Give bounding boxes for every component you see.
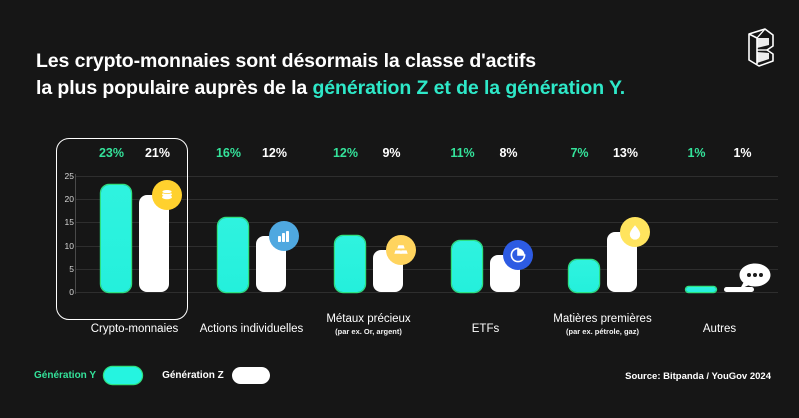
bar-slot — [256, 176, 286, 292]
category-label-main: Matières premières — [536, 313, 669, 327]
value-label: 9% — [377, 146, 407, 160]
bitpanda-b-logo — [743, 26, 777, 68]
bar-slot — [335, 176, 365, 292]
title-line-2: la plus populaire auprès de la génératio… — [36, 75, 625, 102]
title-line-2-highlight: génération Z et de la génération Y. — [312, 77, 625, 99]
value-label: 11% — [448, 146, 478, 160]
bar-slot — [724, 176, 754, 292]
value-label: 1% — [728, 146, 758, 160]
category-label-main: Crypto-monnaies — [68, 323, 201, 337]
bar-group: 1%1%Autres — [661, 136, 778, 336]
bar-pair — [661, 176, 778, 292]
gold-bars-icon — [386, 235, 416, 265]
y-axis-tick-label: 20 — [52, 194, 74, 204]
value-label: 21% — [143, 146, 173, 160]
bar-slot — [139, 176, 169, 292]
category-label-main: Métaux précieux — [302, 313, 435, 327]
y-axis-tick-label: 15 — [52, 217, 74, 227]
bar-pair — [310, 176, 427, 292]
bar-pair — [544, 176, 661, 292]
value-label: 1% — [682, 146, 712, 160]
bar-pair — [76, 176, 193, 292]
category-label: Matières premières(par ex. pétrole, gaz) — [536, 313, 669, 337]
legend-label-gen-z: Génération Z — [162, 370, 224, 381]
title-line-1: Les crypto-monnaies sont désormais la cl… — [36, 48, 625, 75]
value-label-row: 16%12% — [193, 146, 310, 160]
speech-bubble-dots-icon — [736, 261, 774, 293]
y-axis-tick-label: 0 — [52, 287, 74, 297]
bar-slot — [490, 176, 520, 292]
pie-chart-icon — [503, 240, 533, 270]
category-label-main: Autres — [653, 323, 786, 337]
bar-group: 12%9%Métaux précieux(par ex. Or, argent) — [310, 136, 427, 336]
value-label: 12% — [331, 146, 361, 160]
legend-item-gen-y[interactable]: Génération Y — [34, 367, 142, 384]
bar-group: 11%8%ETFs — [427, 136, 544, 336]
value-label-row: 11%8% — [427, 146, 544, 160]
bar-pair — [427, 176, 544, 292]
bar-slot — [218, 176, 248, 292]
bar-chart: 2520151050 23%21%Crypto-monnaies16%12%Ac… — [26, 136, 778, 336]
value-label-row: 23%21% — [76, 146, 193, 160]
value-label: 13% — [611, 146, 641, 160]
value-label: 23% — [97, 146, 127, 160]
legend-swatch-gen-y — [104, 367, 142, 384]
infographic-canvas: Les crypto-monnaies sont désormais la cl… — [0, 0, 799, 418]
bar[interactable] — [569, 260, 599, 292]
bar-groups: 23%21%Crypto-monnaies16%12%Actions indiv… — [76, 136, 778, 336]
title-line-2-plain: la plus populaire auprès de la — [36, 77, 312, 99]
bar-slot — [101, 176, 131, 292]
value-label: 12% — [260, 146, 290, 160]
category-label-sub: (par ex. Or, argent) — [302, 327, 435, 336]
bar-group: 16%12%Actions individuelles — [193, 136, 310, 336]
source-caption: Source: Bitpanda / YouGov 2024 — [625, 371, 771, 382]
bar[interactable] — [452, 241, 482, 292]
category-label-main: ETFs — [419, 323, 552, 337]
bar-slot — [569, 176, 599, 292]
bar-slot — [607, 176, 637, 292]
y-axis-ticks: 2520151050 — [52, 176, 74, 292]
legend-label-gen-y: Génération Y — [34, 370, 96, 381]
bar-slot — [373, 176, 403, 292]
category-label: Crypto-monnaies — [68, 323, 201, 337]
category-label: Actions individuelles — [185, 323, 318, 337]
category-label: Autres — [653, 323, 786, 337]
oil-drop-icon — [620, 217, 650, 247]
y-axis-tick-label: 5 — [52, 264, 74, 274]
bar[interactable] — [101, 185, 131, 292]
category-label-main: Actions individuelles — [185, 323, 318, 337]
y-axis-tick-label: 10 — [52, 241, 74, 251]
chart-legend: Génération Y Génération Z — [34, 367, 270, 384]
category-label: Métaux précieux(par ex. Or, argent) — [302, 313, 435, 337]
bar[interactable] — [335, 236, 365, 292]
bar[interactable] — [686, 287, 716, 292]
category-label: ETFs — [419, 323, 552, 337]
bar-pair — [193, 176, 310, 292]
legend-swatch-gen-z — [232, 367, 270, 384]
bar-slot — [452, 176, 482, 292]
bar-group: 7%13%Matières premières(par ex. pétrole,… — [544, 136, 661, 336]
value-label: 7% — [565, 146, 595, 160]
category-label-sub: (par ex. pétrole, gaz) — [536, 327, 669, 336]
coins-stack-icon — [152, 180, 182, 210]
value-label: 16% — [214, 146, 244, 160]
y-axis-tick-label: 25 — [52, 171, 74, 181]
value-label: 8% — [494, 146, 524, 160]
page-title: Les crypto-monnaies sont désormais la cl… — [36, 48, 625, 102]
legend-item-gen-z[interactable]: Génération Z — [162, 367, 270, 384]
bar[interactable] — [218, 218, 248, 292]
value-label-row: 12%9% — [310, 146, 427, 160]
bar-group: 23%21%Crypto-monnaies — [76, 136, 193, 336]
bar-chart-icon — [269, 221, 299, 251]
value-label-row: 1%1% — [661, 146, 778, 160]
value-label-row: 7%13% — [544, 146, 661, 160]
bar-slot — [686, 176, 716, 292]
